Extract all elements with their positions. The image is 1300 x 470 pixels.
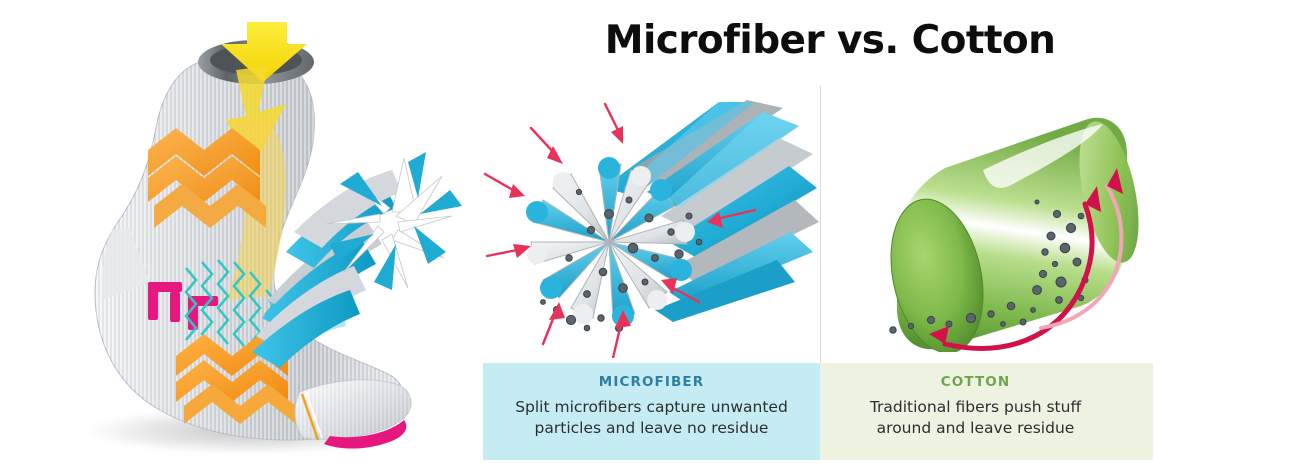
microfiber-caption-body: Split microfibers capture unwanted parti…	[483, 397, 820, 439]
microfiber-caption-panel: MICROFIBER Split microfibers capture unw…	[483, 363, 820, 460]
microfiber-caption-heading: MICROFIBER	[483, 374, 820, 390]
section-divider	[820, 86, 821, 363]
sock-illustration	[0, 0, 470, 470]
cotton-caption-heading: COTTON	[820, 374, 1153, 390]
cotton-caption-panel: COTTON Traditional fibers push stuff aro…	[820, 363, 1153, 460]
cotton-figure	[845, 112, 1155, 352]
cotton-graphic	[845, 112, 1155, 352]
infographic-canvas: Microfiber vs. Cotton	[0, 0, 1300, 470]
cotton-caption-body: Traditional fibers push stuff around and…	[820, 397, 1153, 439]
fiber-strands	[603, 100, 819, 322]
microfiber-figure	[483, 96, 820, 358]
sock-graphic	[0, 0, 470, 470]
microfiber-graphic	[483, 96, 820, 358]
page-title: Microfiber vs. Cotton	[480, 18, 1180, 64]
